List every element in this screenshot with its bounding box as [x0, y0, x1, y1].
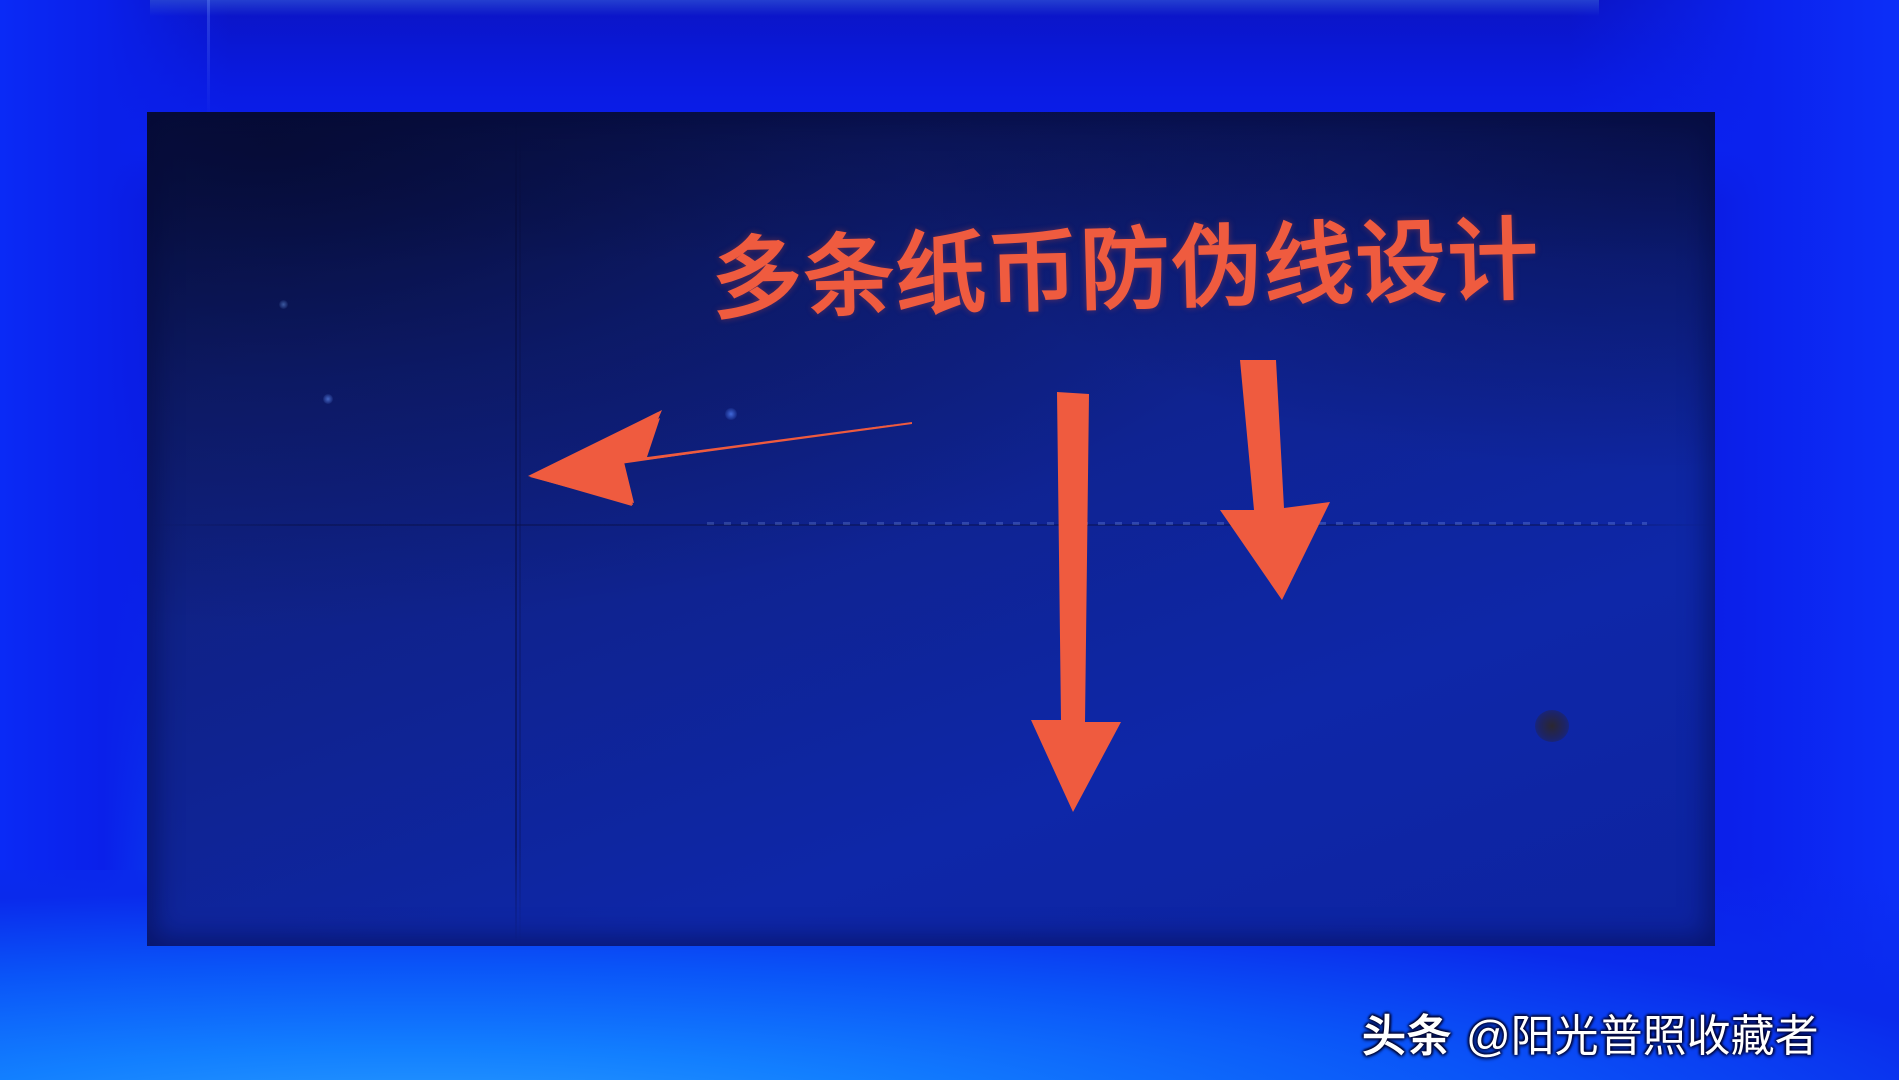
screenshot-canvas: 多条纸币防伪线设计 头条 @阳光普照收藏者: [0, 0, 1899, 1080]
security-thread-vertical-2: [519, 112, 521, 946]
uv-speck-dark: [1535, 710, 1569, 742]
watermark-handle: @阳光普照收藏者: [1466, 1000, 1819, 1064]
uv-speck-blue-3: [279, 300, 288, 309]
security-thread-vertical: [515, 112, 517, 946]
annotation-arrow-down-short: [1220, 360, 1330, 600]
security-thread-dashes: [707, 522, 1647, 525]
background-top-edge-strip: [150, 0, 1599, 16]
background-vertical-seam: [207, 0, 210, 120]
annotation-arrow-left: [528, 382, 912, 506]
uv-speck-blue-1: [323, 394, 333, 404]
watermark: 头条 @阳光普照收藏者: [1362, 1000, 1819, 1064]
watermark-brand: 头条: [1362, 1000, 1452, 1064]
annotation-title: 多条纸币防伪线设计: [711, 216, 1541, 326]
annotation-arrow-down-long: [1031, 392, 1121, 812]
